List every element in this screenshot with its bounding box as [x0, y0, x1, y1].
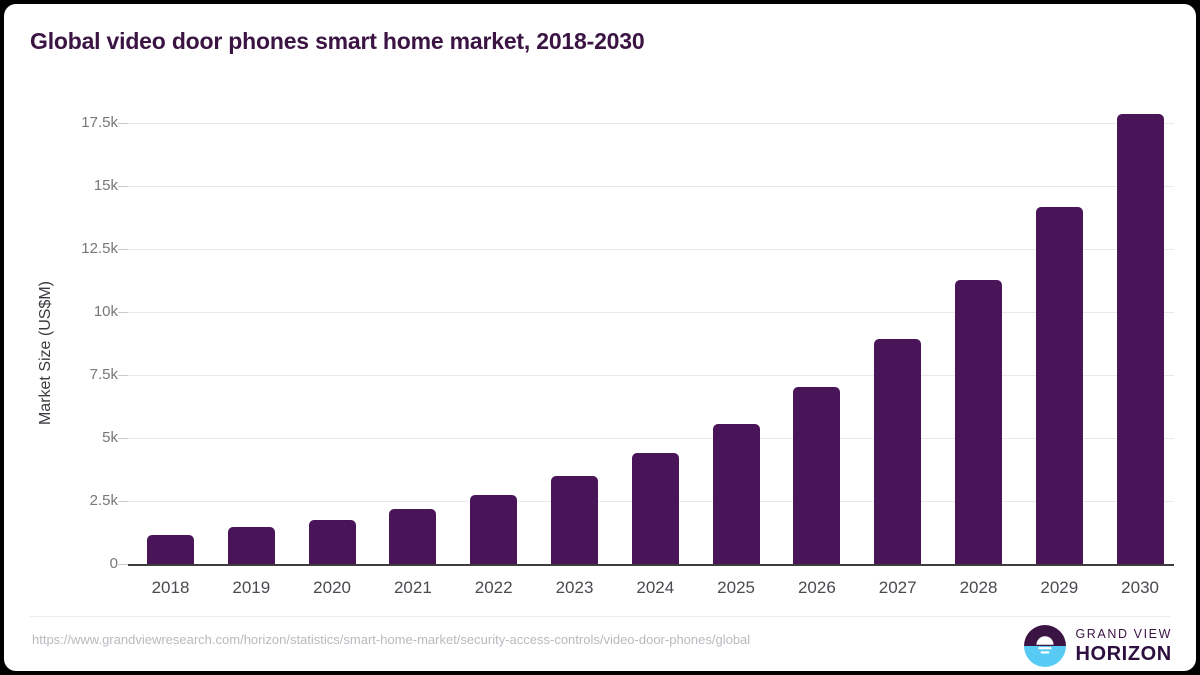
y-axis-tick-label: 12.5k — [38, 240, 118, 257]
logo-line-1: GRAND VIEW — [1075, 628, 1172, 641]
x-axis-tick-label-2026: 2026 — [776, 578, 857, 598]
gridline — [128, 312, 1174, 313]
horizon-sun-icon — [1024, 625, 1066, 667]
x-axis-line — [128, 564, 1174, 566]
x-axis-tick-label-2021: 2021 — [372, 578, 453, 598]
y-axis-tick-label: 15k — [38, 177, 118, 194]
bar-2025[interactable] — [713, 424, 760, 564]
x-axis-tick-label-2019: 2019 — [211, 578, 292, 598]
x-axis-tick-label-2030: 2030 — [1100, 578, 1181, 598]
bar-2023[interactable] — [551, 476, 598, 564]
logo-wordmark: GRAND VIEW HORIZON — [1075, 628, 1172, 664]
gridline — [128, 123, 1174, 124]
bar-2027[interactable] — [874, 339, 921, 564]
x-axis-tick-label-2023: 2023 — [534, 578, 615, 598]
y-axis-tick-label: 2.5k — [38, 492, 118, 509]
screenshot-frame: Global video door phones smart home mark… — [0, 0, 1200, 675]
gridline — [128, 186, 1174, 187]
y-axis-tick-label: 7.5k — [38, 366, 118, 383]
logo-line-2: HORIZON — [1075, 644, 1172, 664]
bar-2018[interactable] — [147, 535, 194, 564]
bar-chart-plot-area: Market Size (US$M) 02.5k5k7.5k10k12.5k15… — [4, 4, 1196, 671]
y-axis-tick-mark — [118, 312, 128, 313]
gridline — [128, 438, 1174, 439]
bar-2026[interactable] — [793, 387, 840, 564]
y-axis-tick-mark — [118, 438, 128, 439]
y-axis-tick-mark — [118, 123, 128, 124]
bar-2021[interactable] — [389, 509, 436, 564]
grand-view-horizon-logo: GRAND VIEW HORIZON — [1024, 624, 1172, 668]
x-axis-tick-label-2029: 2029 — [1019, 578, 1100, 598]
chart-card: Global video door phones smart home mark… — [4, 4, 1196, 671]
x-axis-tick-label-2024: 2024 — [615, 578, 696, 598]
y-axis-tick-mark — [118, 501, 128, 502]
y-axis-tick-label: 17.5k — [38, 114, 118, 131]
bar-2022[interactable] — [470, 495, 517, 564]
y-axis-tick-mark — [118, 375, 128, 376]
x-axis-tick-label-2018: 2018 — [130, 578, 211, 598]
source-url[interactable]: https://www.grandviewresearch.com/horizo… — [32, 632, 750, 647]
y-axis-tick-label: 5k — [38, 429, 118, 446]
x-axis-tick-label-2028: 2028 — [938, 578, 1019, 598]
bar-2028[interactable] — [955, 280, 1002, 564]
footer-divider — [30, 616, 1170, 617]
y-axis-tick-mark — [118, 249, 128, 250]
bar-2024[interactable] — [632, 453, 679, 564]
bar-2029[interactable] — [1036, 207, 1083, 564]
gridline — [128, 375, 1174, 376]
x-axis-tick-label-2025: 2025 — [696, 578, 777, 598]
y-axis-tick-mark — [118, 186, 128, 187]
y-axis-tick-label: 0 — [38, 555, 118, 572]
bar-2020[interactable] — [309, 520, 356, 564]
bar-2019[interactable] — [228, 527, 275, 564]
x-axis-tick-label-2027: 2027 — [857, 578, 938, 598]
gridline — [128, 249, 1174, 250]
bar-2030[interactable] — [1117, 114, 1164, 564]
x-axis-tick-label-2020: 2020 — [292, 578, 373, 598]
x-axis-tick-label-2022: 2022 — [453, 578, 534, 598]
y-axis-tick-label: 10k — [38, 303, 118, 320]
y-axis-tick-mark — [118, 564, 128, 565]
